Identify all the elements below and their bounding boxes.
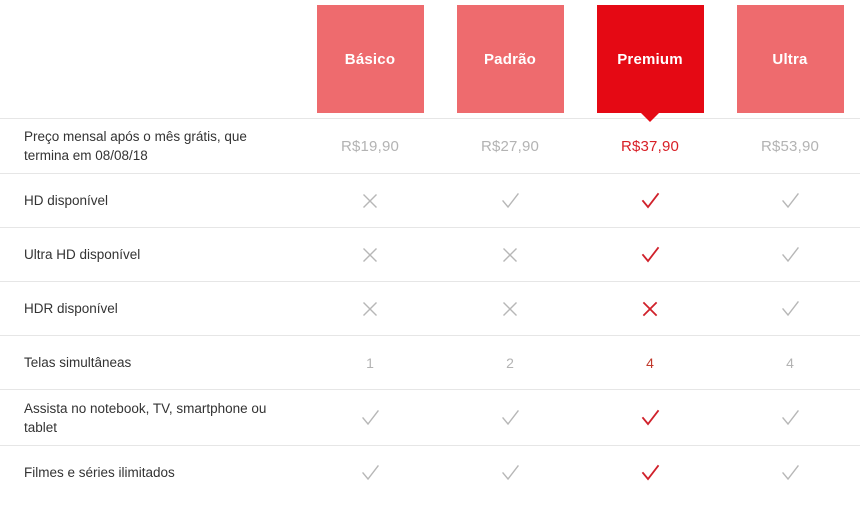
feature-cell-padrao	[440, 244, 580, 266]
screens-value: 4	[786, 355, 794, 371]
feature-cell-padrao	[440, 462, 580, 484]
table-row-devices: Assista no notebook, TV, smartphone ou t…	[0, 389, 860, 445]
check-icon	[639, 407, 661, 429]
plan-tab-ultra[interactable]: Ultra	[737, 5, 844, 113]
plan-tab-padrao[interactable]: Padrão	[457, 5, 564, 113]
table-row-unlimited: Filmes e séries ilimitados	[0, 445, 860, 499]
plan-tab-label: Básico	[345, 51, 395, 68]
table-row-screens: Telas simultâneas 1 2 4 4	[0, 335, 860, 389]
price-cell-padrao: R$27,90	[440, 138, 580, 155]
row-label: Preço mensal após o mês grátis, que term…	[0, 127, 300, 165]
plan-tab-cell-1: Padrão	[440, 0, 580, 113]
screens-value: 2	[506, 355, 514, 371]
check-icon	[499, 190, 521, 212]
row-label: HD disponível	[0, 191, 300, 210]
screens-value: 1	[366, 355, 374, 371]
check-icon	[779, 407, 801, 429]
feature-cell-premium	[580, 244, 720, 266]
plan-tab-label: Padrão	[484, 51, 536, 68]
plan-tab-cell-2: Premium	[580, 0, 720, 113]
feature-cell-ultra	[720, 298, 860, 320]
screens-cell-padrao: 2	[440, 355, 580, 371]
row-label: Telas simultâneas	[0, 353, 300, 372]
feature-cell-padrao	[440, 190, 580, 212]
row-label: Ultra HD disponível	[0, 245, 300, 264]
price-cell-basico: R$19,90	[300, 138, 440, 155]
screens-cell-premium: 4	[580, 355, 720, 371]
check-icon	[499, 462, 521, 484]
feature-cell-basico	[300, 407, 440, 429]
row-label: HDR disponível	[0, 299, 300, 318]
plan-tab-label: Ultra	[772, 51, 807, 68]
screens-cell-ultra: 4	[720, 355, 860, 371]
feature-cell-basico	[300, 462, 440, 484]
table-row-hd: HD disponível	[0, 173, 860, 227]
price-value: R$19,90	[341, 138, 399, 155]
plan-tab-cell-0: Básico	[300, 0, 440, 113]
feature-cell-ultra	[720, 190, 860, 212]
check-icon	[779, 244, 801, 266]
price-value: R$27,90	[481, 138, 539, 155]
screens-cell-basico: 1	[300, 355, 440, 371]
cross-icon	[359, 190, 381, 212]
feature-cell-basico	[300, 298, 440, 320]
cross-icon	[639, 298, 661, 320]
check-icon	[779, 190, 801, 212]
check-icon	[779, 298, 801, 320]
feature-cell-ultra	[720, 462, 860, 484]
feature-cell-premium	[580, 407, 720, 429]
check-icon	[359, 407, 381, 429]
cross-icon	[359, 298, 381, 320]
cross-icon	[499, 244, 521, 266]
price-value: R$53,90	[761, 138, 819, 155]
feature-cell-ultra	[720, 407, 860, 429]
check-icon	[639, 190, 661, 212]
check-icon	[499, 407, 521, 429]
feature-cell-ultra	[720, 244, 860, 266]
price-value: R$37,90	[621, 138, 679, 155]
plan-header-row: Básico Padrão Premium Ultra	[0, 0, 860, 118]
feature-cell-basico	[300, 190, 440, 212]
feature-cell-premium	[580, 298, 720, 320]
feature-cell-basico	[300, 244, 440, 266]
price-cell-premium: R$37,90	[580, 138, 720, 155]
table-row-ultra-hd: Ultra HD disponível	[0, 227, 860, 281]
check-icon	[639, 244, 661, 266]
price-cell-ultra: R$53,90	[720, 138, 860, 155]
screens-value: 4	[646, 355, 654, 371]
table-row-price: Preço mensal após o mês grátis, que term…	[0, 118, 860, 173]
check-icon	[359, 462, 381, 484]
row-label: Assista no notebook, TV, smartphone ou t…	[0, 399, 300, 437]
table-row-hdr: HDR disponível	[0, 281, 860, 335]
check-icon	[779, 462, 801, 484]
row-label: Filmes e séries ilimitados	[0, 463, 300, 482]
feature-cell-premium	[580, 462, 720, 484]
cross-icon	[359, 244, 381, 266]
plan-tab-label: Premium	[617, 51, 683, 68]
plan-tab-cell-3: Ultra	[720, 0, 860, 113]
feature-cell-premium	[580, 190, 720, 212]
check-icon	[639, 462, 661, 484]
feature-cell-padrao	[440, 407, 580, 429]
plan-tab-basico[interactable]: Básico	[317, 5, 424, 113]
cross-icon	[499, 298, 521, 320]
plan-comparison-table: Básico Padrão Premium Ultra Preço mensal…	[0, 0, 860, 509]
plan-tab-premium[interactable]: Premium	[597, 5, 704, 113]
feature-cell-padrao	[440, 298, 580, 320]
